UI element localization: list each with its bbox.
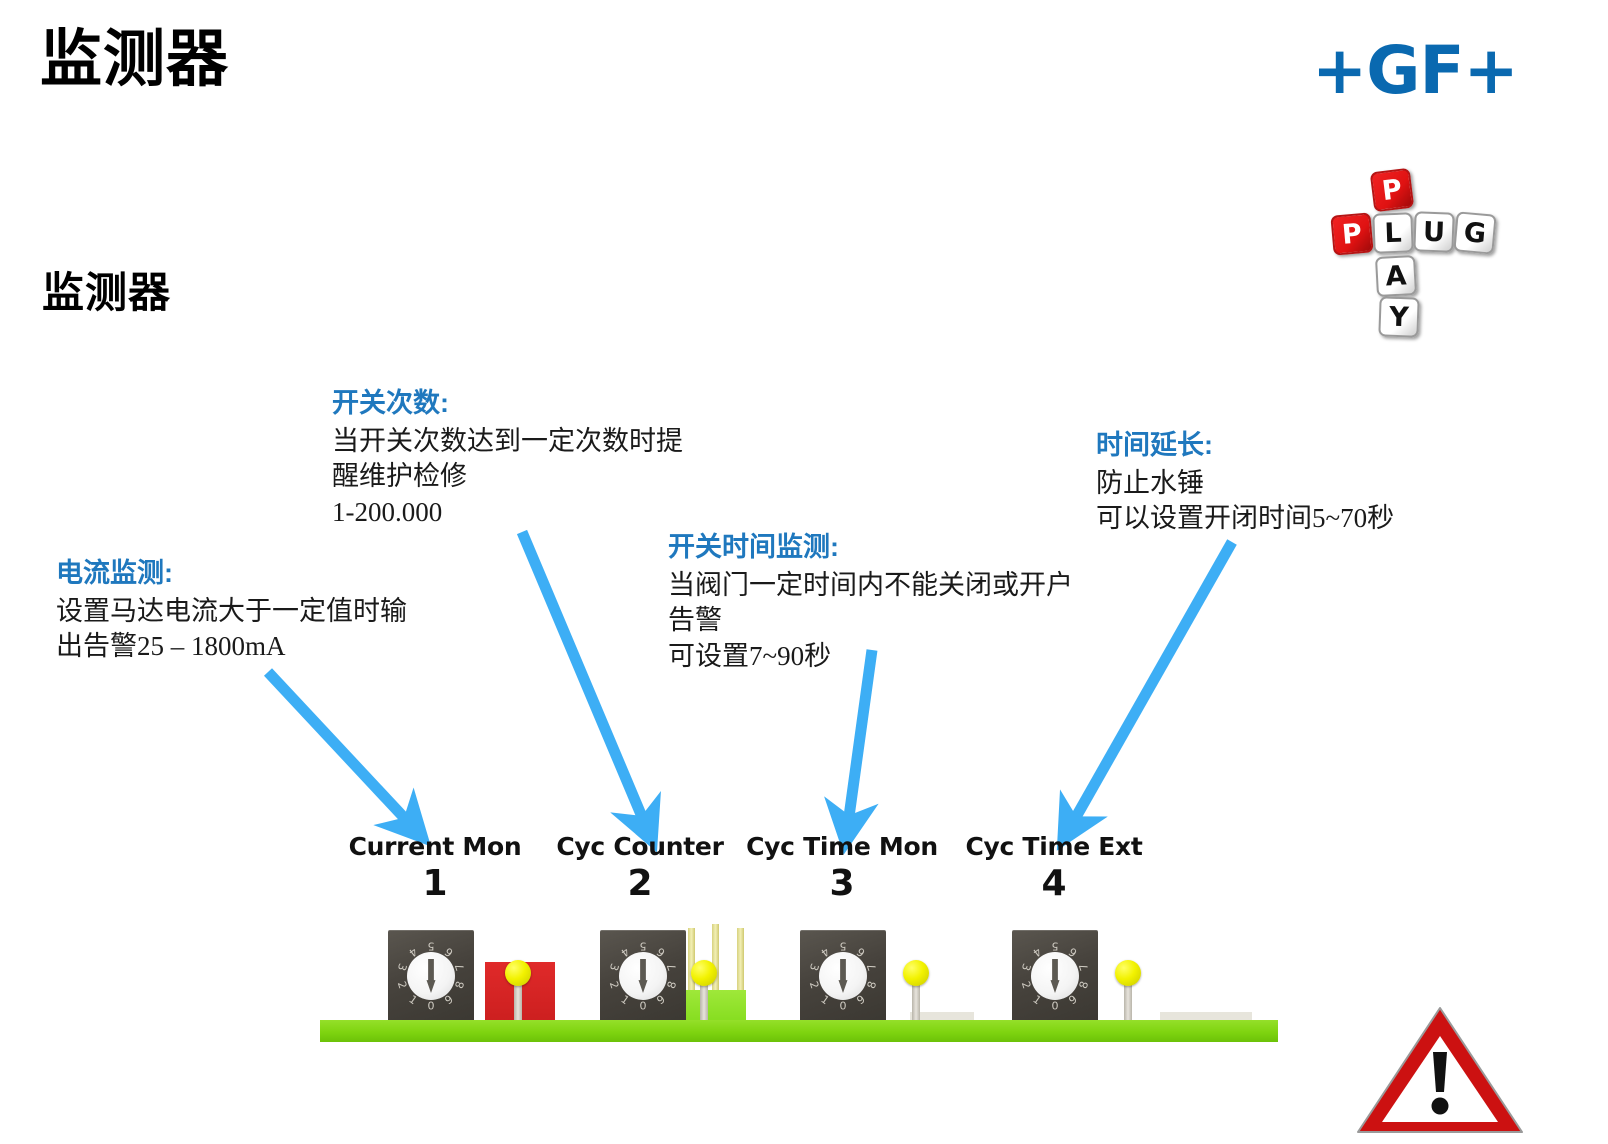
- rotary-switch-3[interactable]: 0123456789: [800, 930, 886, 1022]
- dial-digit-2: 2: [807, 980, 822, 991]
- led-lead: [1124, 980, 1132, 1024]
- dial-digit-2: 2: [395, 980, 410, 991]
- dial-digit-1: 1: [1031, 993, 1044, 1008]
- note-current-mon-heading: 电流监测:: [56, 556, 407, 592]
- die-a: A: [1375, 255, 1417, 297]
- note-cyc-time-mon-heading: 开关时间监测:: [668, 530, 1073, 566]
- arrow-to-cyc-time-ext: [1072, 542, 1232, 824]
- note-cyc-time-mon-line-1: 当阀门一定时间内不能关闭或开户: [668, 568, 1073, 604]
- gf-logo: +GF+: [1312, 32, 1518, 109]
- dial-digit-8: 8: [864, 980, 879, 991]
- led-lead: [514, 980, 522, 1024]
- dial-digit-0: 0: [428, 1000, 435, 1013]
- channel-label: Cyc Time Mon: [727, 832, 957, 861]
- dial-digit-9: 9: [442, 993, 455, 1008]
- dial-digit-6: 6: [442, 944, 455, 959]
- pcb-board-graphic: Current Mon 1 Cyc Counter 2 Cyc Time Mon…: [300, 832, 1300, 1042]
- channel-cyc-time-mon: Cyc Time Mon 3: [727, 832, 957, 904]
- led-lead: [912, 980, 920, 1024]
- dial-digit-9: 9: [1066, 993, 1079, 1008]
- dial-digit-1: 1: [407, 993, 420, 1008]
- note-cyc-time-mon-line-3: 可设置7~90秒: [668, 639, 1073, 675]
- note-cyc-time-ext-heading: 时间延长:: [1096, 428, 1394, 464]
- dial-digit-6: 6: [854, 944, 867, 959]
- dial-digit-5: 5: [428, 940, 435, 953]
- die-y: Y: [1378, 296, 1419, 337]
- led-bulb: [505, 960, 531, 986]
- dial-digit-2: 2: [607, 980, 622, 991]
- arrow-to-current-mon: [268, 672, 410, 824]
- die-p-top: P: [1370, 168, 1415, 213]
- slide-canvas: 监测器 监测器 +GF+ P P L U G A Y 电流监测: 设置马达电流大…: [0, 0, 1608, 1144]
- channel-number: 2: [525, 863, 755, 904]
- dial-digit-6: 6: [1066, 944, 1079, 959]
- dial-digit-1: 1: [619, 993, 632, 1008]
- channel-number: 4: [939, 863, 1169, 904]
- page-title: 监测器: [40, 28, 229, 93]
- led-bulb: [903, 960, 929, 986]
- dial-digit-5: 5: [1052, 940, 1059, 953]
- dial-digit-2: 2: [1019, 980, 1034, 991]
- dial-digit-0: 0: [1052, 1000, 1059, 1013]
- dial-digit-3: 3: [607, 961, 622, 972]
- note-current-mon: 电流监测: 设置马达电流大于一定值时输 出告警25 – 1800mA: [56, 556, 407, 665]
- channel-current-mon: Current Mon 1: [320, 832, 550, 904]
- die-u: U: [1413, 211, 1454, 252]
- dial-digit-3: 3: [807, 961, 822, 972]
- die-g: G: [1453, 211, 1496, 254]
- rotary-switch-4[interactable]: 0123456789: [1012, 930, 1098, 1022]
- green-connector-block: [680, 990, 746, 1022]
- dial-digit-3: 3: [395, 961, 410, 972]
- note-cyc-time-mon-line-2: 告警: [668, 603, 1073, 639]
- dial-digit-7: 7: [1076, 961, 1091, 972]
- note-cyc-time-mon: 开关时间监测: 当阀门一定时间内不能关闭或开户 告警 可设置7~90秒: [668, 530, 1073, 675]
- channel-number: 3: [727, 863, 957, 904]
- dial-digit-6: 6: [654, 944, 667, 959]
- channel-cyc-counter: Cyc Counter 2: [525, 832, 755, 904]
- dial-digit-7: 7: [452, 961, 467, 972]
- led-bulb: [1115, 960, 1141, 986]
- dial-digit-7: 7: [664, 961, 679, 972]
- die-l: L: [1372, 212, 1413, 253]
- pcb-substrate: [320, 1020, 1278, 1042]
- plug-and-play-dice-logo: P P L U G A Y: [1326, 168, 1506, 328]
- section-title: 监测器: [42, 272, 171, 316]
- led-lead: [700, 980, 708, 1024]
- dial-digit-3: 3: [1019, 961, 1034, 972]
- warning-triangle-icon: [1352, 1000, 1528, 1140]
- dial-digit-0: 0: [840, 1000, 847, 1013]
- dial-digit-5: 5: [840, 940, 847, 953]
- dial-digit-8: 8: [664, 980, 679, 991]
- channel-label: Current Mon: [320, 832, 550, 861]
- dial-digit-7: 7: [864, 961, 879, 972]
- note-current-mon-line-1: 设置马达电流大于一定值时输: [56, 594, 407, 630]
- rotary-switch-1[interactable]: 0123456789: [388, 930, 474, 1022]
- channel-cyc-time-ext: Cyc Time Ext 4: [939, 832, 1169, 904]
- dial-digit-9: 9: [854, 993, 867, 1008]
- channel-number: 1: [320, 863, 550, 904]
- arrow-to-cyc-time-mon: [848, 650, 872, 824]
- note-cyc-counter-line-3: 1-200.000: [332, 495, 683, 531]
- solder-pad: [1160, 1012, 1252, 1020]
- note-current-mon-line-2: 出告警25 – 1800mA: [56, 629, 407, 665]
- note-cyc-counter-heading: 开关次数:: [332, 386, 683, 422]
- arrow-to-cyc-counter: [522, 532, 645, 824]
- dial-digit-1: 1: [819, 993, 832, 1008]
- dial-digit-5: 5: [640, 940, 647, 953]
- dial-digit-9: 9: [654, 993, 667, 1008]
- dial-digit-0: 0: [640, 1000, 647, 1013]
- rotary-switch-2[interactable]: 0123456789: [600, 930, 686, 1022]
- note-cyc-counter: 开关次数: 当开关次数达到一定次数时提 醒维护检修 1-200.000: [332, 386, 683, 531]
- led-bulb: [691, 960, 717, 986]
- note-cyc-counter-line-1: 当开关次数达到一定次数时提: [332, 424, 683, 460]
- note-cyc-time-ext: 时间延长: 防止水锤 可以设置开闭时间5~70秒: [1096, 428, 1394, 537]
- dial-digit-8: 8: [1076, 980, 1091, 991]
- note-cyc-counter-line-2: 醒维护检修: [332, 459, 683, 495]
- note-cyc-time-ext-line-2: 可以设置开闭时间5~70秒: [1096, 501, 1394, 537]
- die-p-left: P: [1330, 212, 1373, 255]
- note-cyc-time-ext-line-1: 防止水锤: [1096, 466, 1394, 502]
- dial-digit-8: 8: [452, 980, 467, 991]
- channel-label: Cyc Time Ext: [939, 832, 1169, 861]
- channel-label: Cyc Counter: [525, 832, 755, 861]
